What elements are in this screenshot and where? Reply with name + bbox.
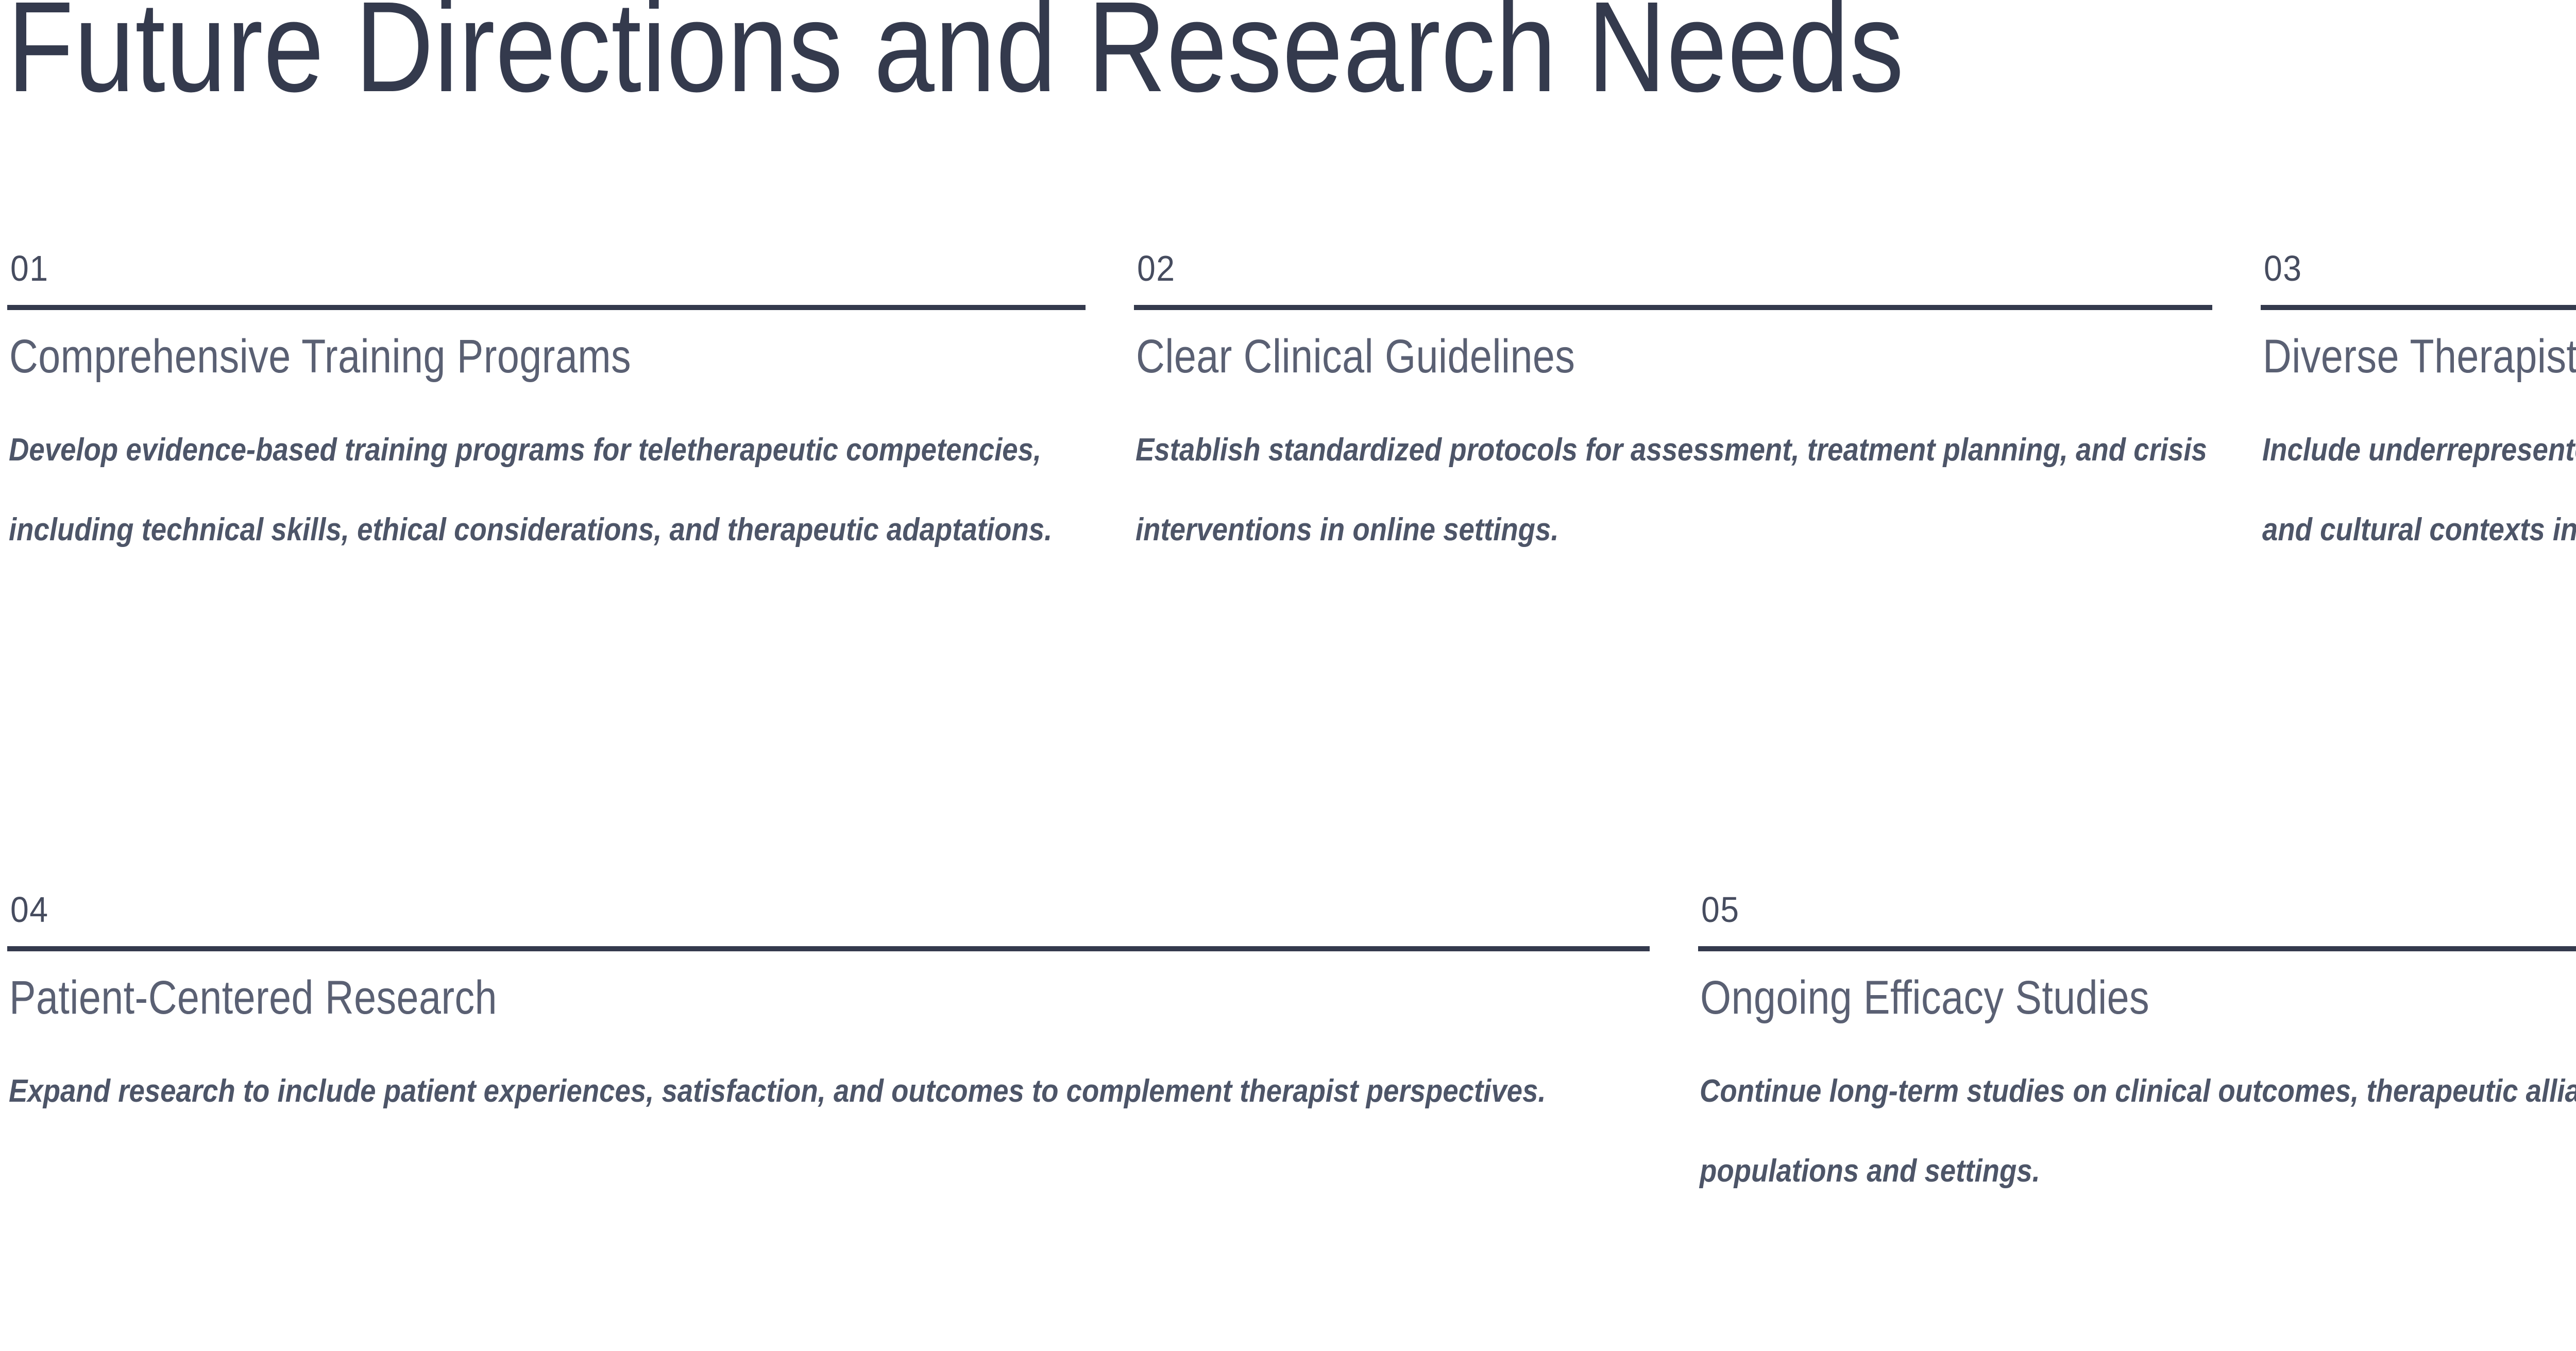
card-row-2: 04 Patient-Centered Research Expand rese…	[7, 892, 2576, 1211]
card-05[interactable]: 05 Ongoing Efficacy Studies Continue lon…	[1698, 892, 2576, 1211]
card-body-text: Expand research to include patient exper…	[9, 1051, 1651, 1131]
card-02[interactable]: 02 Clear Clinical Guidelines Establish s…	[1134, 250, 2212, 570]
card-divider-rule	[7, 946, 1650, 951]
page-title: Future Directions and Research Needs	[7, 0, 1904, 111]
card-01[interactable]: 01 Comprehensive Training Programs Devel…	[7, 250, 1086, 570]
card-number-label: 01	[10, 250, 999, 288]
card-divider-rule	[2261, 305, 2576, 310]
card-divider-rule	[7, 305, 1086, 310]
card-title-label: Ongoing Efficacy Studies	[1700, 974, 2576, 1021]
card-row-1: 01 Comprehensive Training Programs Devel…	[7, 250, 2576, 570]
card-title-label: Comprehensive Training Programs	[9, 333, 913, 380]
card-title-label: Patient-Centered Research	[9, 974, 1387, 1021]
card-title-label: Clear Clinical Guidelines	[1136, 333, 2040, 380]
card-04[interactable]: 04 Patient-Centered Research Expand rese…	[7, 892, 1650, 1211]
card-body-text: Establish standardized protocols for ass…	[1136, 410, 2213, 570]
card-divider-rule	[1698, 946, 2576, 951]
card-number-label: 04	[10, 892, 1518, 930]
card-body-text: Develop evidence-based training programs…	[9, 410, 1087, 570]
card-number-label: 05	[1701, 892, 2576, 930]
card-divider-rule	[1134, 305, 2212, 310]
card-03[interactable]: 03 Diverse Therapist Perspectives Includ…	[2261, 250, 2576, 570]
card-number-label: 02	[1137, 250, 2126, 288]
card-number-label: 03	[2264, 250, 2576, 288]
card-title-label: Diverse Therapist Perspectives	[2263, 333, 2576, 380]
card-body-text: Continue long-term studies on clinical o…	[1700, 1051, 2576, 1211]
slide-root: Future Directions and Research Needs 01 …	[0, 0, 2576, 1351]
card-body-text: Include underrepresented groups in resea…	[2262, 410, 2576, 570]
